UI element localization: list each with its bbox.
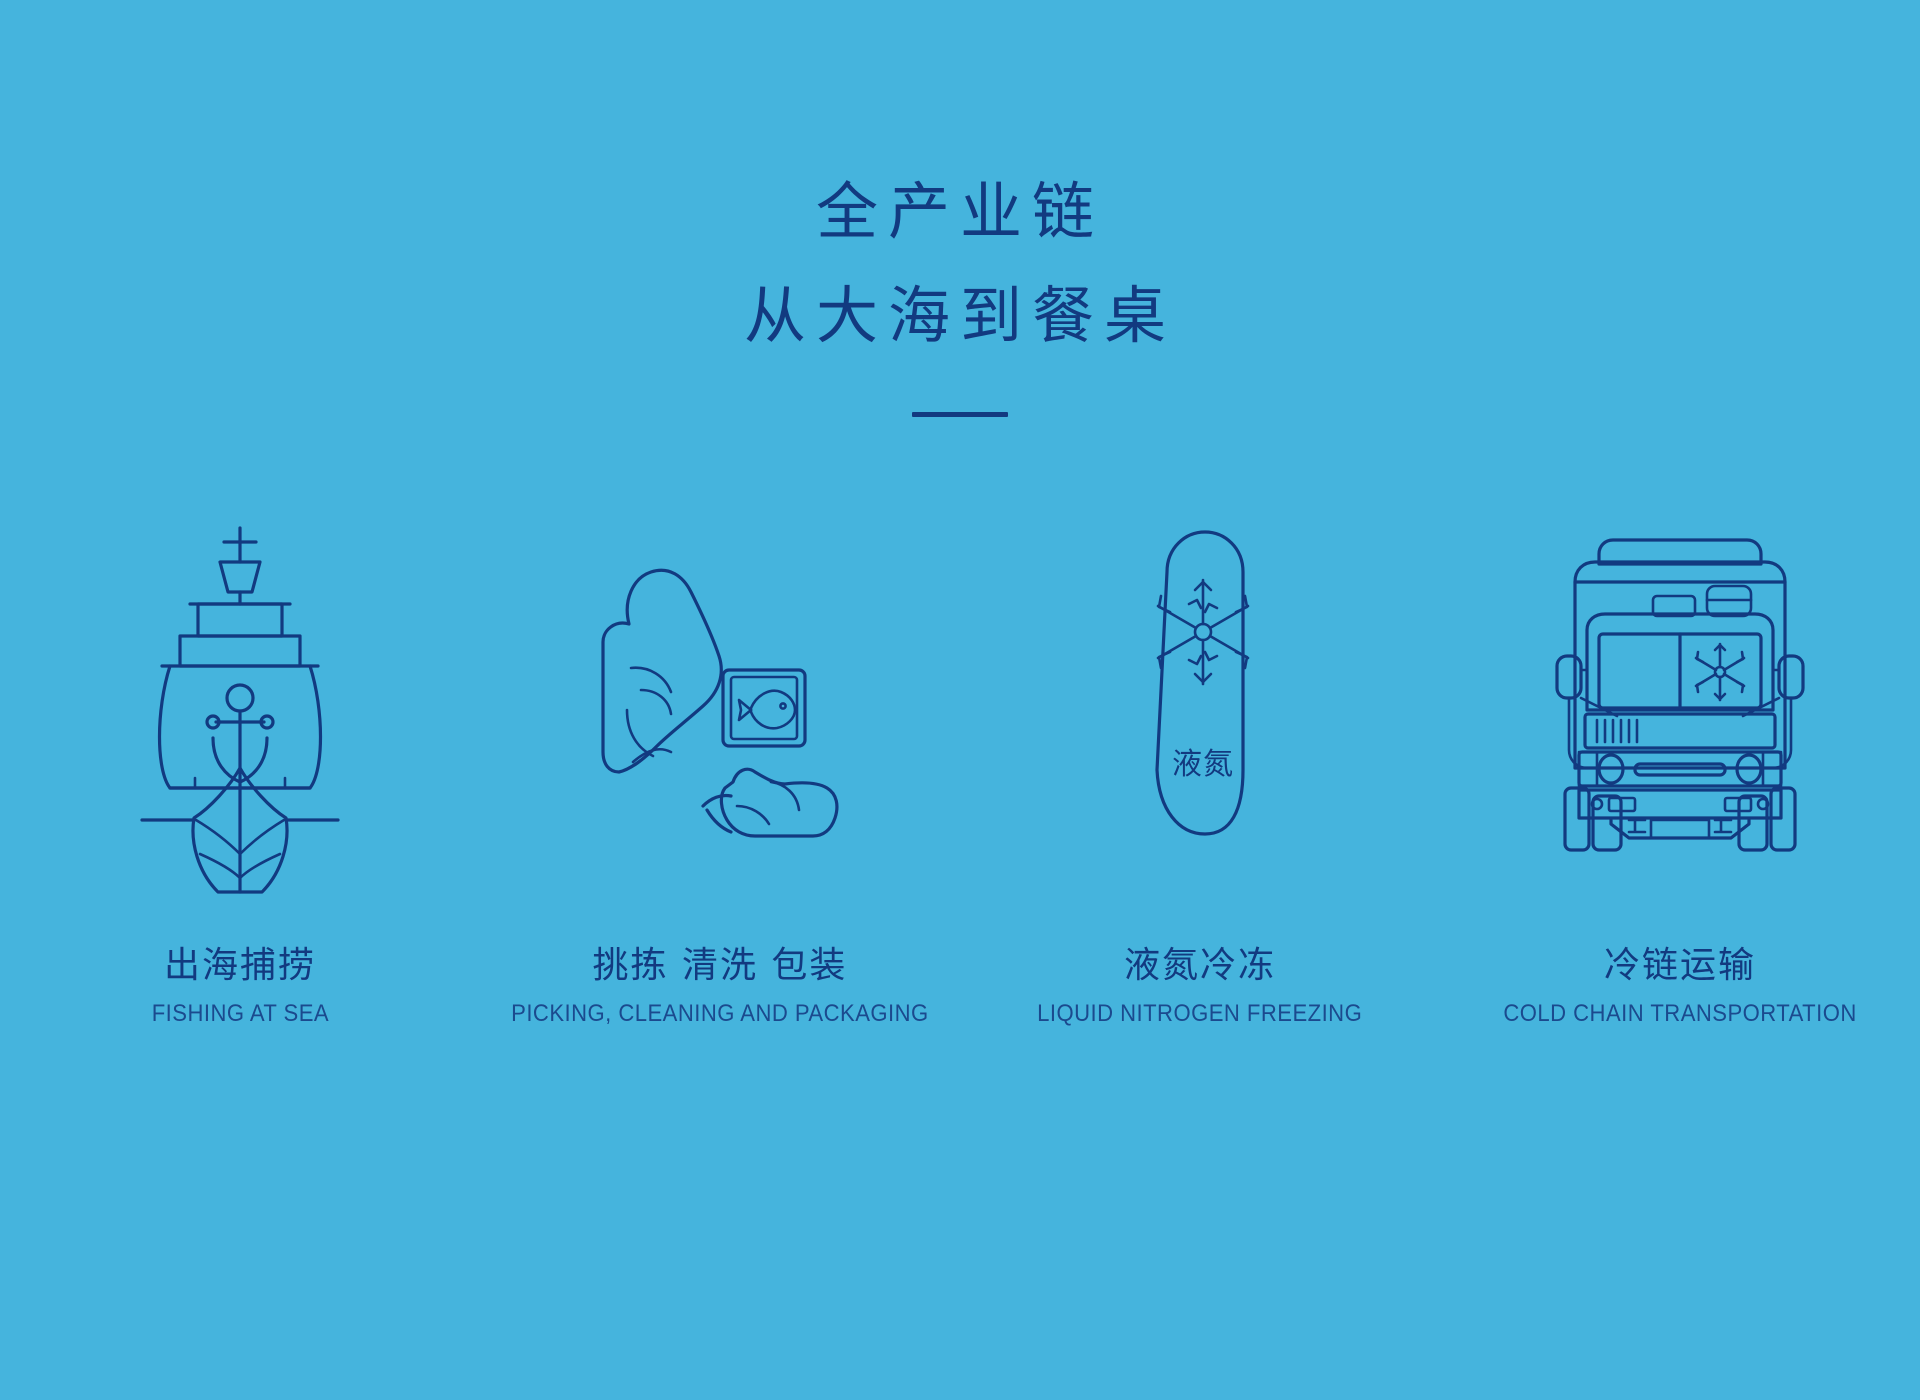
page-title-line-2: 从大海到餐桌 bbox=[0, 264, 1920, 368]
snowflake-icon bbox=[1158, 580, 1248, 684]
page-title-line-1: 全产业链 bbox=[0, 160, 1920, 264]
step-captions: 出海捕捞 FISHING AT SEA bbox=[144, 944, 337, 1032]
step-title-cn: 冷链运输 bbox=[1488, 944, 1872, 988]
step-captions: 液氮冷冻 LIQUID NITROGEN FREEZING bbox=[1023, 944, 1376, 1032]
process-steps: 出海捕捞 FISHING AT SEA bbox=[0, 520, 1920, 1032]
liquid-nitrogen-tank-icon: 液氮 bbox=[1115, 520, 1285, 850]
step-picking-cleaning-packaging[interactable]: 挑拣 清洗 包装 PICKING, CLEANING AND PACKAGING bbox=[480, 520, 960, 1032]
step-fishing-at-sea[interactable]: 出海捕捞 FISHING AT SEA bbox=[0, 520, 480, 1032]
step-title-en: FISHING AT SEA bbox=[151, 996, 328, 1032]
snowflake-icon bbox=[1696, 644, 1744, 700]
step-title-en: LIQUID NITROGEN FREEZING bbox=[1037, 996, 1362, 1032]
title-divider bbox=[912, 412, 1008, 417]
fishing-boat-icon bbox=[140, 520, 340, 850]
step-title-en: PICKING, CLEANING AND PACKAGING bbox=[511, 996, 929, 1032]
step-title-en: COLD CHAIN TRANSPORTATION bbox=[1503, 996, 1856, 1032]
page-header: 全产业链 从大海到餐桌 bbox=[0, 160, 1920, 417]
step-title-cn: 出海捕捞 bbox=[144, 944, 337, 988]
hands-packaging-fish-icon bbox=[585, 520, 855, 850]
step-title-cn: 液氮冷冻 bbox=[1023, 944, 1376, 988]
refrigerated-truck-icon bbox=[1555, 520, 1805, 850]
step-captions: 冷链运输 COLD CHAIN TRANSPORTATION bbox=[1488, 944, 1872, 1032]
tank-label: 液氮 bbox=[1172, 747, 1234, 782]
step-liquid-nitrogen-freezing[interactable]: 液氮 液氮冷冻 LIQUID NITROGEN FREEZING bbox=[960, 520, 1440, 1032]
step-cold-chain-transportation[interactable]: 冷链运输 COLD CHAIN TRANSPORTATION bbox=[1440, 520, 1920, 1032]
infographic-page: 全产业链 从大海到餐桌 bbox=[0, 0, 1920, 1400]
step-captions: 挑拣 清洗 包装 PICKING, CLEANING AND PACKAGING bbox=[493, 944, 947, 1032]
step-title-cn: 挑拣 清洗 包装 bbox=[493, 944, 947, 988]
